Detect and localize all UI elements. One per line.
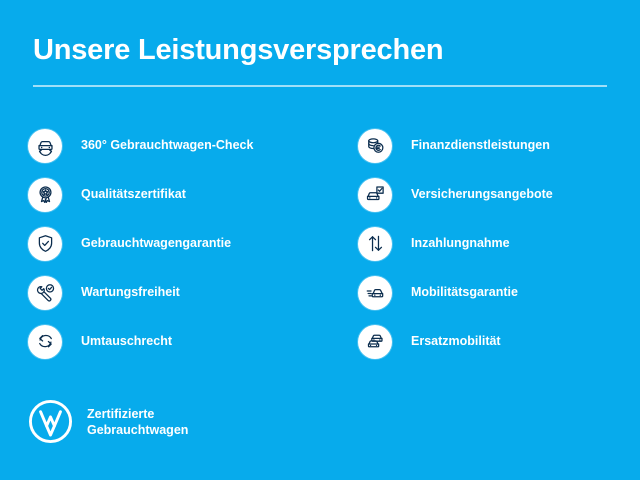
car-motion-icon: [358, 276, 392, 310]
feature-item-replacement-mobility[interactable]: Ersatzmobilität: [358, 317, 640, 366]
feature-item-quality-certificate[interactable]: Qualitätszertifikat: [28, 170, 358, 219]
feature-label: Gebrauchtwagengarantie: [81, 236, 231, 251]
brand-text-line-2: Gebrauchtwagen: [87, 422, 188, 438]
feature-item-insurance-offers[interactable]: Versicherungsangebote: [358, 170, 640, 219]
arrows-up-down-icon: [358, 227, 392, 261]
brand-text-line-1: Zertifizierte: [87, 406, 188, 422]
feature-item-360-check[interactable]: 360° Gebrauchtwagen-Check: [28, 121, 358, 170]
volkswagen-logo-icon: [28, 399, 73, 444]
coins-euro-icon: [358, 129, 392, 163]
feature-label: Wartungsfreiheit: [81, 285, 180, 300]
shield-check-icon: [28, 227, 62, 261]
title-divider: [33, 85, 607, 87]
feature-label: 360° Gebrauchtwagen-Check: [81, 138, 253, 153]
feature-label: Ersatzmobilität: [411, 334, 501, 349]
car-document-icon: [358, 178, 392, 212]
feature-label: Inzahlungnahme: [411, 236, 510, 251]
car-360-check-icon: [28, 129, 62, 163]
wrench-check-icon: [28, 276, 62, 310]
feature-column-right: Finanzdienstleistungen Versicherungsange…: [358, 121, 640, 366]
feature-label: Mobilitätsgarantie: [411, 285, 518, 300]
brand-lockup: Zertifizierte Gebrauchtwagen: [28, 399, 188, 444]
feature-item-trade-in[interactable]: Inzahlungnahme: [358, 219, 640, 268]
feature-item-financial-services[interactable]: Finanzdienstleistungen: [358, 121, 640, 170]
page-title: Unsere Leistungsversprechen: [33, 33, 443, 67]
exchange-arrows-icon: [28, 325, 62, 359]
feature-label: Qualitätszertifikat: [81, 187, 186, 202]
feature-item-maintenance-free[interactable]: Wartungsfreiheit: [28, 268, 358, 317]
brand-text: Zertifizierte Gebrauchtwagen: [87, 406, 188, 438]
feature-item-mobility-guarantee[interactable]: Mobilitätsgarantie: [358, 268, 640, 317]
feature-label: Versicherungsangebote: [411, 187, 553, 202]
promise-panel: Unsere Leistungsversprechen 360° G: [0, 0, 640, 480]
feature-label: Finanzdienstleistungen: [411, 138, 550, 153]
feature-column-left: 360° Gebrauchtwagen-Check Qualitätszerti…: [28, 121, 358, 366]
feature-grid: 360° Gebrauchtwagen-Check Qualitätszerti…: [0, 121, 640, 366]
feature-label: Umtauschrecht: [81, 334, 172, 349]
award-rosette-icon: [28, 178, 62, 212]
feature-item-used-car-warranty[interactable]: Gebrauchtwagengarantie: [28, 219, 358, 268]
two-cars-icon: [358, 325, 392, 359]
feature-item-exchange-right[interactable]: Umtauschrecht: [28, 317, 358, 366]
